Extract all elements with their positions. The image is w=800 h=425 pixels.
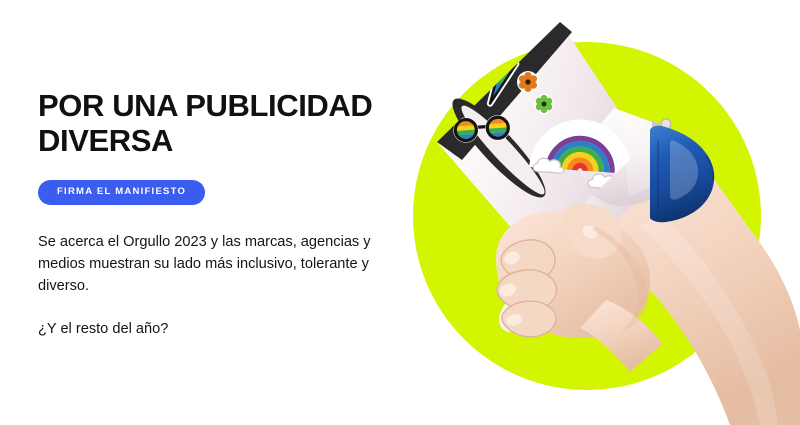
sign-manifesto-button[interactable]: FIRMA EL MANIFIESTO: [38, 180, 205, 205]
orange-flower-sticker: [517, 71, 539, 93]
body-copy: Se acerca el Orgullo 2023 y las marcas, …: [38, 231, 398, 341]
body-paragraph-1: Se acerca el Orgullo 2023 y las marcas, …: [38, 231, 378, 298]
artwork-area: [400, 0, 800, 425]
text-column: POR UNA PUBLICIDAD DIVERSA FIRMA EL MANI…: [38, 88, 398, 340]
promo-banner: POR UNA PUBLICIDAD DIVERSA FIRMA EL MANI…: [0, 0, 800, 425]
green-flower-sticker: [534, 94, 554, 114]
page-title: POR UNA PUBLICIDAD DIVERSA: [38, 88, 383, 158]
hand-holding-megaphone-photo: [400, 0, 800, 425]
body-paragraph-2: ¿Y el resto del año?: [38, 318, 378, 340]
cta-container: FIRMA EL MANIFIESTO: [38, 180, 398, 205]
